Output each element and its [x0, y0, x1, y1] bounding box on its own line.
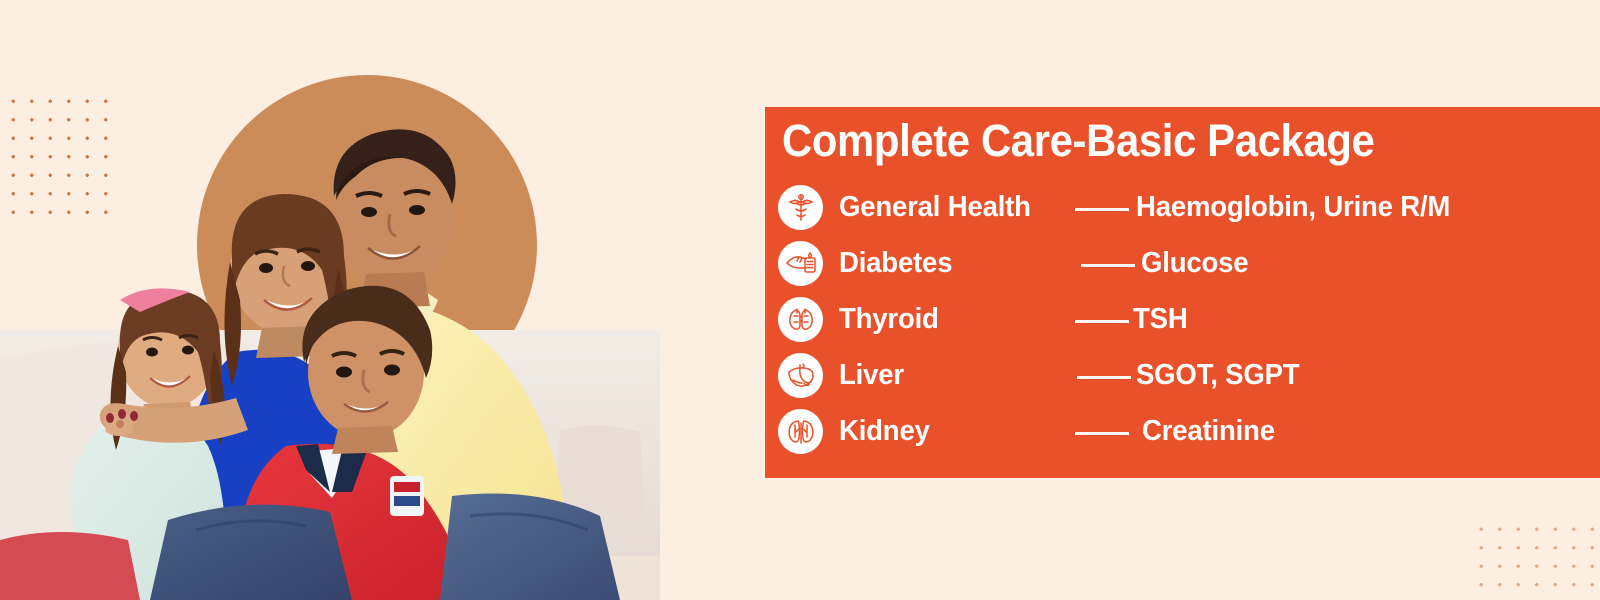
- list-item[interactable]: Thyroid TSH: [778, 295, 1598, 351]
- list-item-label: Diabetes: [839, 245, 952, 281]
- list-item-value: Glucose: [1141, 245, 1248, 281]
- list-item-label: General Health: [839, 189, 1031, 225]
- list-item-separator: [1075, 208, 1129, 211]
- thyroid-icon: [778, 297, 823, 342]
- package-panel: Complete Care-Basic Package: [765, 107, 1600, 478]
- list-item[interactable]: Diabetes Glucose: [778, 239, 1598, 295]
- list-item-value: TSH: [1133, 301, 1188, 337]
- list-item[interactable]: Liver SGOT, SGPT: [778, 351, 1598, 407]
- list-item[interactable]: Kidney Creatinine: [778, 407, 1598, 463]
- caduceus-icon: [778, 185, 823, 230]
- glucometer-icon: [778, 241, 823, 286]
- list-item-value: Creatinine: [1142, 413, 1275, 449]
- list-item-value: SGOT, SGPT: [1136, 357, 1299, 393]
- list-item-label: Liver: [839, 357, 904, 393]
- package-title: Complete Care-Basic Package: [782, 115, 1374, 167]
- test-list: General Health Haemoglobin, Urine R/M: [778, 183, 1598, 463]
- list-item-value: Haemoglobin, Urine R/M: [1136, 189, 1450, 225]
- family-photo-area: [0, 0, 662, 600]
- list-item-separator: [1081, 264, 1135, 267]
- list-item-separator: [1075, 320, 1129, 323]
- liver-icon: [778, 353, 823, 398]
- list-item[interactable]: General Health Haemoglobin, Urine R/M: [778, 183, 1598, 239]
- list-item-separator: [1077, 376, 1131, 379]
- kidney-icon: [778, 409, 823, 454]
- health-package-banner: Complete Care-Basic Package: [0, 0, 1600, 600]
- family-photo: [0, 0, 662, 600]
- list-item-separator: [1075, 432, 1129, 435]
- list-item-label: Thyroid: [839, 301, 939, 337]
- list-item-label: Kidney: [839, 413, 930, 449]
- dot-grid-bottom-right: [1468, 516, 1600, 600]
